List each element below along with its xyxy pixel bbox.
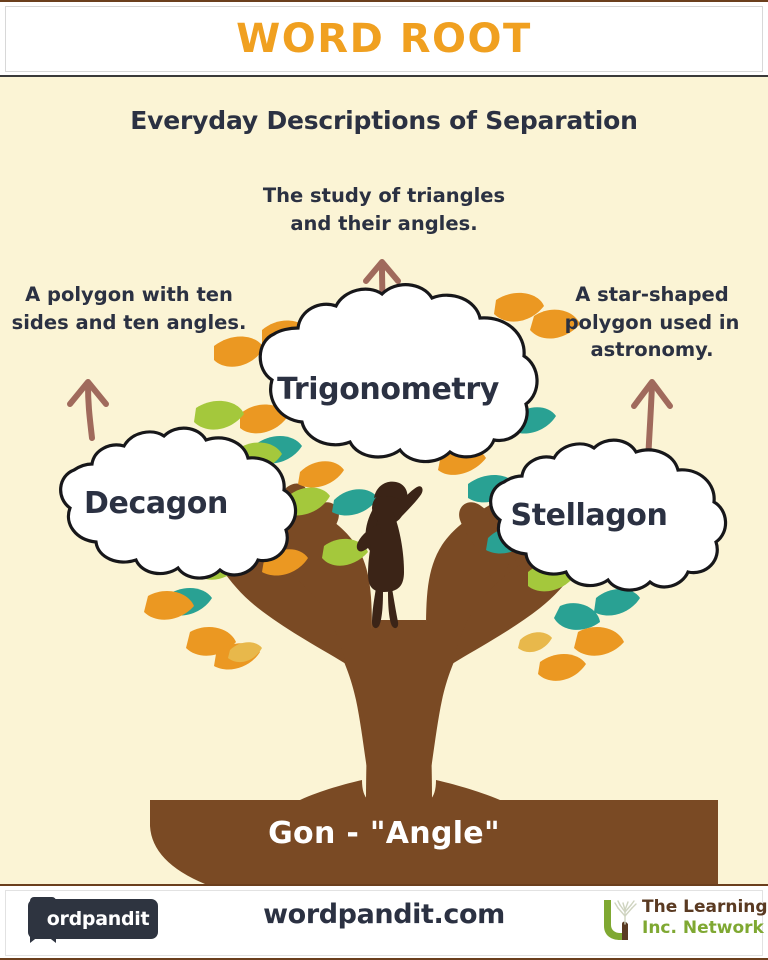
- description-line: The study of triangles: [224, 182, 544, 210]
- arrow-decagon: [70, 382, 106, 438]
- description-line: A star-shaped: [548, 281, 756, 309]
- description-line: and their angles.: [224, 210, 544, 238]
- tln-line-1: The Learning: [642, 897, 768, 917]
- description-stellagon: A star-shaped polygon used in astronomy.: [548, 281, 756, 364]
- root-label: Gon - "Angle": [0, 816, 768, 851]
- description-line: polygon used in: [548, 309, 756, 337]
- description-line: sides and ten angles.: [0, 309, 258, 337]
- page-title: WORD ROOT: [236, 16, 532, 62]
- description-decagon: A polygon with ten sides and ten angles.: [0, 281, 258, 336]
- tln-line-2: Inc. Network: [642, 918, 764, 938]
- tln-tree-icon: [598, 896, 642, 944]
- word-label-stellagon: Stellagon: [460, 498, 718, 533]
- the-learning-inc-network-logo[interactable]: The Learning Inc. Network: [598, 896, 748, 944]
- description-trigonometry: The study of triangles and their angles.: [224, 182, 544, 237]
- word-label-decagon: Decagon: [32, 486, 280, 521]
- word-label-trigonometry: Trigonometry: [233, 372, 543, 407]
- description-line: astronomy.: [548, 336, 756, 364]
- description-line: A polygon with ten: [0, 281, 258, 309]
- infographic-page: WORD ROOT Everyday Descriptions of Separ…: [0, 0, 768, 960]
